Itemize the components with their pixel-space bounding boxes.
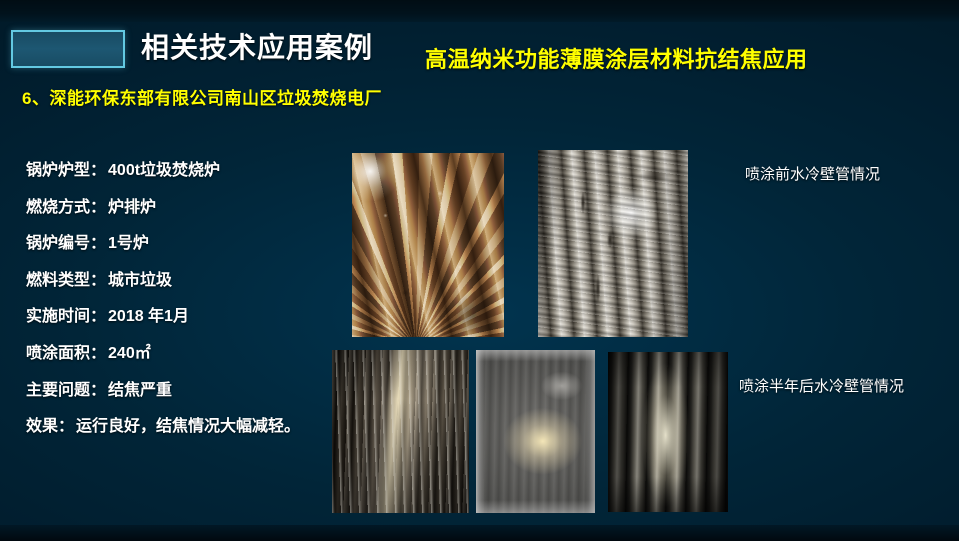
photo-texture-flakes xyxy=(332,350,469,513)
photo-after-middle xyxy=(476,350,595,513)
spec-row: 主要问题：结焦严重 xyxy=(26,380,316,402)
case-heading: 6、深能环保东部有限公司南山区垃圾焚烧电厂 xyxy=(22,84,382,109)
photo-texture-crack xyxy=(538,150,688,337)
photo-before-left xyxy=(352,153,504,337)
photo-texture-edge xyxy=(476,350,595,513)
spec-label: 燃料类型： xyxy=(26,272,106,289)
spec-label: 主要问题： xyxy=(26,382,106,399)
spec-row: 燃料类型：城市垃圾 xyxy=(26,270,316,292)
spec-row: 实施时间：2018 年1月 xyxy=(26,306,316,328)
caption-before: 喷涂前水冷壁管情况 xyxy=(745,163,880,184)
spec-value: 运行良好，结焦情况大幅减轻。 xyxy=(76,418,300,435)
header-badge-box xyxy=(11,30,125,68)
spec-row: 锅炉编号：1号炉 xyxy=(26,233,316,255)
spec-value: 240㎡ xyxy=(108,345,151,362)
photo-texture-grain xyxy=(352,153,504,337)
spec-value: 1号炉 xyxy=(108,235,149,252)
spec-list: 锅炉炉型：400t垃圾焚烧炉 燃烧方式：炉排炉 锅炉编号：1号炉 燃料类型：城市… xyxy=(26,160,316,453)
bottom-band xyxy=(0,525,959,541)
header-subtitle: 高温纳米功能薄膜涂层材料抗结焦应用 xyxy=(425,42,808,74)
spec-row: 锅炉炉型：400t垃圾焚烧炉 xyxy=(26,160,316,182)
spec-row: 喷涂面积：240㎡ xyxy=(26,343,316,365)
spec-value: 结焦严重 xyxy=(108,382,172,399)
spec-label: 喷涂面积： xyxy=(26,345,106,362)
page-title: 相关技术应用案例 xyxy=(141,26,373,66)
spec-value: 炉排炉 xyxy=(108,199,156,216)
spec-label: 锅炉编号： xyxy=(26,235,106,252)
spec-label: 燃烧方式： xyxy=(26,199,106,216)
spec-label: 实施时间： xyxy=(26,308,106,325)
photo-texture-shade xyxy=(608,352,728,512)
presentation-slide: 相关技术应用案例 高温纳米功能薄膜涂层材料抗结焦应用 6、深能环保东部有限公司南… xyxy=(0,0,959,541)
spec-value: 城市垃圾 xyxy=(108,272,172,289)
spec-label: 效果： xyxy=(26,418,74,435)
caption-after: 喷涂半年后水冷壁管情况 xyxy=(739,375,904,396)
spec-row: 效果：运行良好，结焦情况大幅减轻。 xyxy=(26,416,316,438)
photo-after-right xyxy=(608,352,728,512)
spec-value: 400t垃圾焚烧炉 xyxy=(108,162,220,179)
photo-before-right xyxy=(538,150,688,337)
spec-value: 2018 年1月 xyxy=(108,308,189,325)
spec-row: 燃烧方式：炉排炉 xyxy=(26,197,316,219)
top-band xyxy=(0,0,959,22)
photo-after-left xyxy=(332,350,469,513)
spec-label: 锅炉炉型： xyxy=(26,162,106,179)
